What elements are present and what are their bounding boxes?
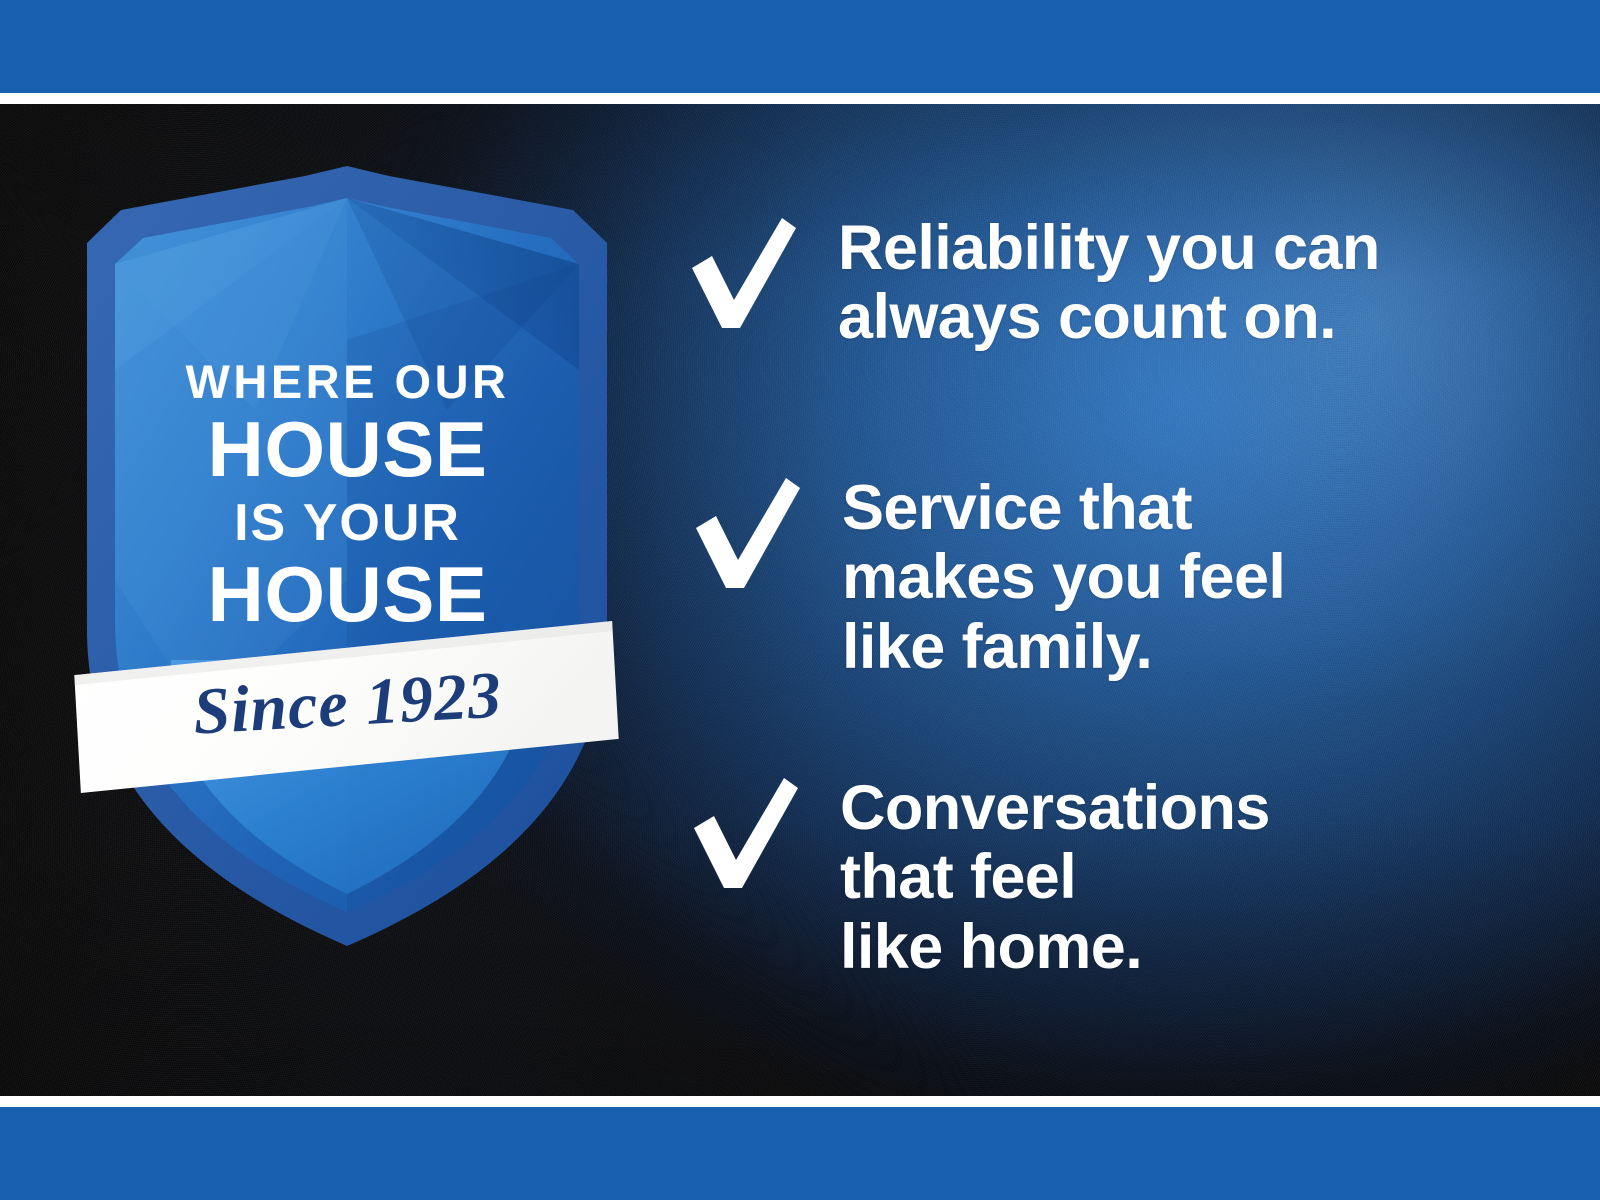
benefit-item-reliability: Reliability you can always count on. [678, 214, 1380, 353]
checkmark-icon [678, 216, 798, 334]
shield-line-4: House [75, 555, 620, 633]
shield-line-3: Is Your [75, 497, 620, 549]
shield-line-1: Where Our [75, 358, 620, 405]
bottom-brand-bar [0, 1107, 1600, 1200]
shield-badge: Where Our House Is Your House Since 1923 [75, 160, 620, 950]
benefit-text-conversations: Conversations that feel like home. [840, 774, 1270, 982]
bottom-divider-stripe [0, 1096, 1600, 1107]
checkmark-icon [680, 776, 800, 894]
top-brand-bar [0, 0, 1600, 93]
shield-line-2: House [75, 410, 620, 488]
benefits-list: Reliability you can always count on. Ser… [670, 104, 1570, 1096]
checkmark-icon [682, 476, 802, 594]
promo-poster: Where Our House Is Your House Since 1923… [0, 0, 1600, 1200]
benefit-text-service: Service that makes you feel like family. [842, 474, 1285, 682]
top-divider-stripe [0, 93, 1600, 104]
benefit-item-service: Service that makes you feel like family. [682, 474, 1285, 682]
benefit-item-conversations: Conversations that feel like home. [680, 774, 1270, 982]
benefit-text-reliability: Reliability you can always count on. [838, 214, 1380, 353]
